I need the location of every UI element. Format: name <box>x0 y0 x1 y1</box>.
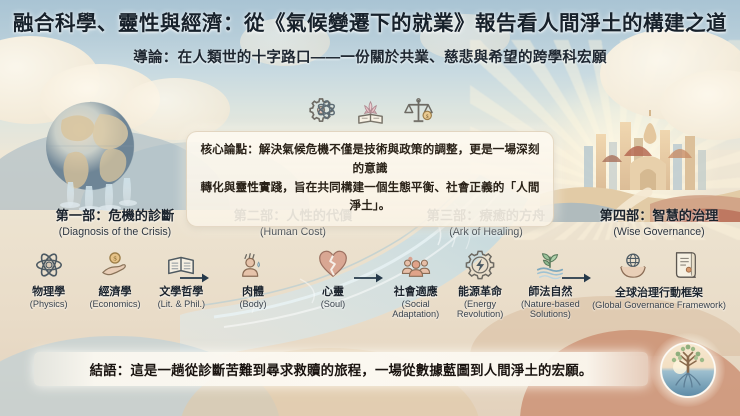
page-title: 融合科學、靈性與經濟：從《氣候變遷下的就業》報告看人間淨土的構建之道 <box>0 12 740 37</box>
item-label-en: (Body) <box>222 299 284 310</box>
list-item[interactable]: 社會適應 (Social Adaptation) <box>386 247 445 320</box>
section-4-item-label-zh: 全球治理行動框架 <box>580 284 738 300</box>
melting-globe-illustration <box>14 92 194 212</box>
gear-atom-icon <box>307 96 338 127</box>
section-part-4[interactable]: 第四部：智慧的治理 (Wise Governance) <box>580 208 738 310</box>
list-item[interactable]: 能源革命 (Energy Revolution) <box>449 247 510 320</box>
section-3-subtitle: (Ark of Healing) <box>386 226 586 238</box>
page-subtitle: 導論：在人類世的十字路口——一份關於共業、慈悲與希望的跨學科宏願 <box>0 46 740 67</box>
item-label-en: (Physics) <box>20 299 77 310</box>
list-item[interactable]: 物理學 (Physics) <box>20 247 77 310</box>
core-thesis-line-1: 核心論點：解決氣候危機不僅是技術與政策的調整，更是一場深刻的意識 <box>200 141 540 179</box>
section-part-1[interactable]: 第一部：危機的診斷 (Diagnosis of the Crisis) 物理學 … <box>20 208 210 309</box>
hand-coin-icon: $ <box>86 247 143 280</box>
globe-in-hands-icon <box>614 247 652 280</box>
infographic-poster: 融合科學、靈性與經濟：從《氣候變遷下的就業》報告看人間淨土的構建之道 導論：在人… <box>0 0 740 416</box>
list-item[interactable]: 肉體 (Body) <box>222 247 284 310</box>
section-4-subtitle: (Wise Governance) <box>580 226 738 238</box>
list-item[interactable]: $ 經濟學 (Economics) <box>86 247 143 310</box>
scroll-document-icon <box>666 247 704 280</box>
list-item[interactable] <box>666 247 704 280</box>
golden-pure-land-city-illustration <box>540 82 740 222</box>
conclusion-text: 結語：這是一趟從診斷苦難到尋求救贖的旅程，一場從數據藍圖到人間淨土的宏願。 <box>90 359 593 379</box>
section-4-items <box>580 247 738 280</box>
scales-coin-icon: $ <box>403 96 434 127</box>
arrow-part1-to-part2 <box>178 270 212 286</box>
list-item[interactable] <box>614 247 652 280</box>
section-2-items: 肉體 (Body) 心靈 (Soul) <box>218 247 368 310</box>
lotus-book-icon <box>355 96 386 127</box>
item-label-zh: 物理學 <box>20 283 77 299</box>
people-group-icon <box>386 247 445 280</box>
item-label-en: (Lit. & Phil.) <box>153 299 210 310</box>
item-label-zh: 經濟學 <box>86 283 143 299</box>
section-3-items: 社會適應 (Social Adaptation) 能源革命 (Energy Re… <box>386 247 586 320</box>
item-label-en: (Energy Revolution) <box>449 299 510 320</box>
section-1-subtitle: (Diagnosis of the Crisis) <box>20 226 210 238</box>
item-label-zh: 能源革命 <box>449 283 510 299</box>
core-thesis-line-2: 轉化與靈性實踐，旨在共同構建一個生態平衡、社會正義的「人間淨土」。 <box>200 179 540 217</box>
conclusion-banner: 結語：這是一趟從診斷苦難到尋求救贖的旅程，一場從數據藍圖到人間淨土的宏願。 <box>34 352 648 386</box>
energy-bolt-gear-icon <box>449 247 510 280</box>
arrow-part3-to-part4 <box>560 270 594 286</box>
core-thesis-block: $ 核心論點：解決氣候危機不僅是技術與政策的調整，更是一場深刻的意識 轉化與靈性… <box>186 96 554 227</box>
header: 融合科學、靈性與經濟：從《氣候變遷下的就業》報告看人間淨土的構建之道 導論：在人… <box>0 12 740 67</box>
item-label-zh: 社會適應 <box>386 283 445 299</box>
arrow-part2-to-part3 <box>352 270 386 286</box>
section-4-title: 第四部：智慧的治理 <box>580 208 738 225</box>
section-1-title: 第一部：危機的診斷 <box>20 208 210 225</box>
item-label-en: (Soul) <box>302 299 364 310</box>
core-thesis-icon-row: $ <box>186 96 554 127</box>
item-label-en: (Economics) <box>86 299 143 310</box>
item-label-en: (Social Adaptation) <box>386 299 445 320</box>
core-thesis-card: 核心論點：解決氣候危機不僅是技術與政策的調整，更是一場深刻的意識 轉化與靈性實踐… <box>186 131 554 227</box>
svg-text:$: $ <box>425 113 428 120</box>
section-2-subtitle: (Human Cost) <box>218 226 368 238</box>
item-label-zh: 肉體 <box>222 283 284 299</box>
sweating-person-icon <box>222 247 284 280</box>
atom-icon <box>20 247 77 280</box>
tree-of-life-emblem <box>658 340 718 400</box>
item-label-en: (Nature-based Solutions) <box>515 299 586 320</box>
section-4-item-label-en: (Global Governance Framework) <box>580 300 738 311</box>
